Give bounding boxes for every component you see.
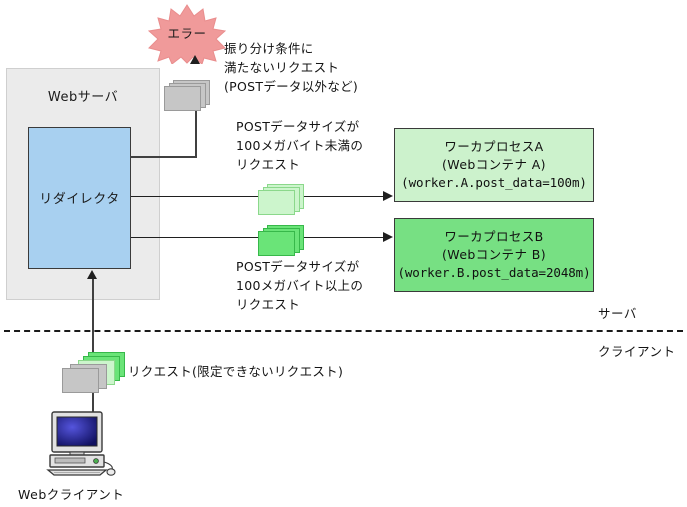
flow-a-doc-stack [258,184,304,218]
server-side-label: サーバ [598,303,637,322]
error-arrowhead-icon [190,55,200,64]
flow-b-arrowhead-icon [383,232,393,242]
redirector-label: リダイレクタ [28,188,131,207]
under-100m-annotation: POSTデータサイズが 100メガバイト未満の リクエスト [236,118,363,174]
error-connector-vertical [195,108,197,158]
client-side-label: クライアント [598,341,676,360]
flow-b-doc-stack [258,225,304,259]
client-request-label: リクエスト(限定できないリクエスト) [128,363,343,382]
worker-process-a-box: ワーカプロセスA (Webコンテナ A) (worker.A.post_data… [394,128,594,202]
worker-b-line1: ワーカプロセスB [444,228,543,246]
over-100m-annotation: POSTデータサイズが 100メガバイト以上の リクエスト [236,258,363,314]
error-condition-annotation: 振り分け条件に 満たないリクエスト (POSTデータ以外など) [224,40,358,96]
error-burst-label: エラー [148,23,226,42]
worker-a-line1: ワーカプロセスA [444,138,543,156]
client-request-doc-stack [62,352,126,396]
server-client-divider [4,330,683,332]
worker-a-line2: (Webコンテナ A) [442,156,546,174]
client-arrowhead-icon [87,270,97,279]
error-connector-horizontal [130,156,197,158]
flow-a-arrowhead-icon [383,191,393,201]
diagram-canvas: Webサーバ リダイレクタ エラー 振り分け条件に 満たないリクエスト (POS… [0,0,687,507]
worker-a-line3: (worker.A.post_data=100m) [401,174,587,192]
desktop-computer-icon [44,410,118,476]
worker-process-b-box: ワーカプロセスB (Webコンテナ B) (worker.B.post_data… [394,218,594,292]
worker-b-line3: (worker.B.post_data=2048m) [397,264,590,282]
web-client-label: Webクライアント [18,484,124,503]
worker-b-line2: (Webコンテナ B) [442,246,546,264]
rejected-request-doc-stack [164,80,210,114]
webserver-label: Webサーバ [6,86,160,105]
